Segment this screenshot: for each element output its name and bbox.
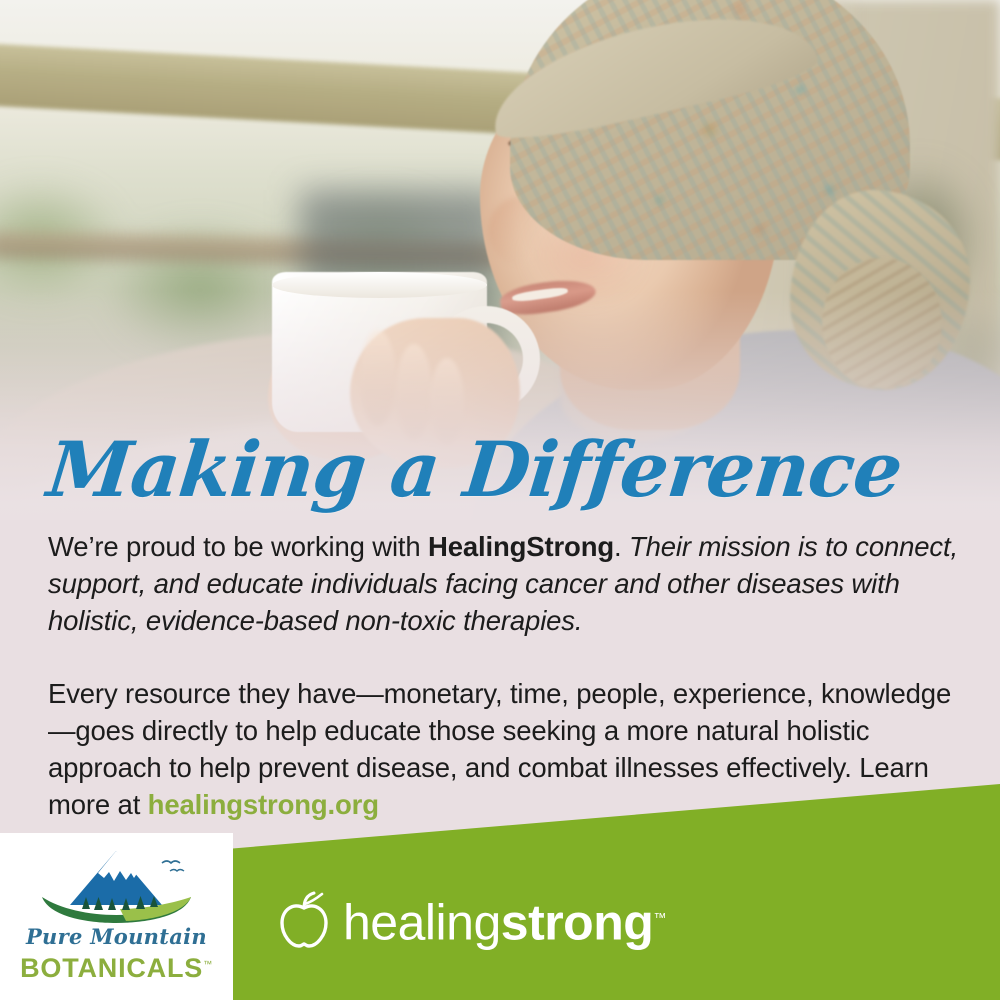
pmb-block-label: BOTANICALS <box>20 953 203 983</box>
pure-mountain-botanicals-logo: Pure Mountain BOTANICALS™ <box>0 833 233 1000</box>
healingstrong-wordmark: healingstrong™ <box>343 893 666 948</box>
pmb-trademark-icon: ™ <box>203 959 213 969</box>
pure-mountain-wordmark: Pure Mountain BOTANICALS™ <box>0 925 233 983</box>
hs-light-text: healing <box>343 894 501 950</box>
healingstrong-logo: healingstrong™ <box>277 884 666 956</box>
healingstrong-link[interactable]: healingstrong.org <box>148 789 379 820</box>
paragraph-resources: Every resource they have—monetary, time,… <box>48 675 963 823</box>
apple-icon <box>277 890 331 950</box>
page-title: Making a Difference <box>43 425 906 514</box>
hs-trademark-icon: ™ <box>653 910 666 925</box>
mission-lead: We’re proud to be working with <box>48 531 428 562</box>
mountain-icon <box>34 847 199 925</box>
pmb-block-text: BOTANICALS™ <box>0 949 233 983</box>
body-copy: We’re proud to be working with HealingSt… <box>48 528 963 823</box>
brand-name: HealingStrong <box>428 531 614 562</box>
paragraph-spacer <box>48 639 963 675</box>
paragraph-mission: We’re proud to be working with HealingSt… <box>48 528 963 639</box>
text-panel: Making a Difference We’re proud to be wo… <box>0 520 1000 865</box>
promotional-poster: Making a Difference We’re proud to be wo… <box>0 0 1000 1000</box>
mission-period: . <box>614 531 629 562</box>
hs-bold-text: strong <box>501 894 654 950</box>
pmb-script-text: Pure Mountain <box>0 925 233 949</box>
